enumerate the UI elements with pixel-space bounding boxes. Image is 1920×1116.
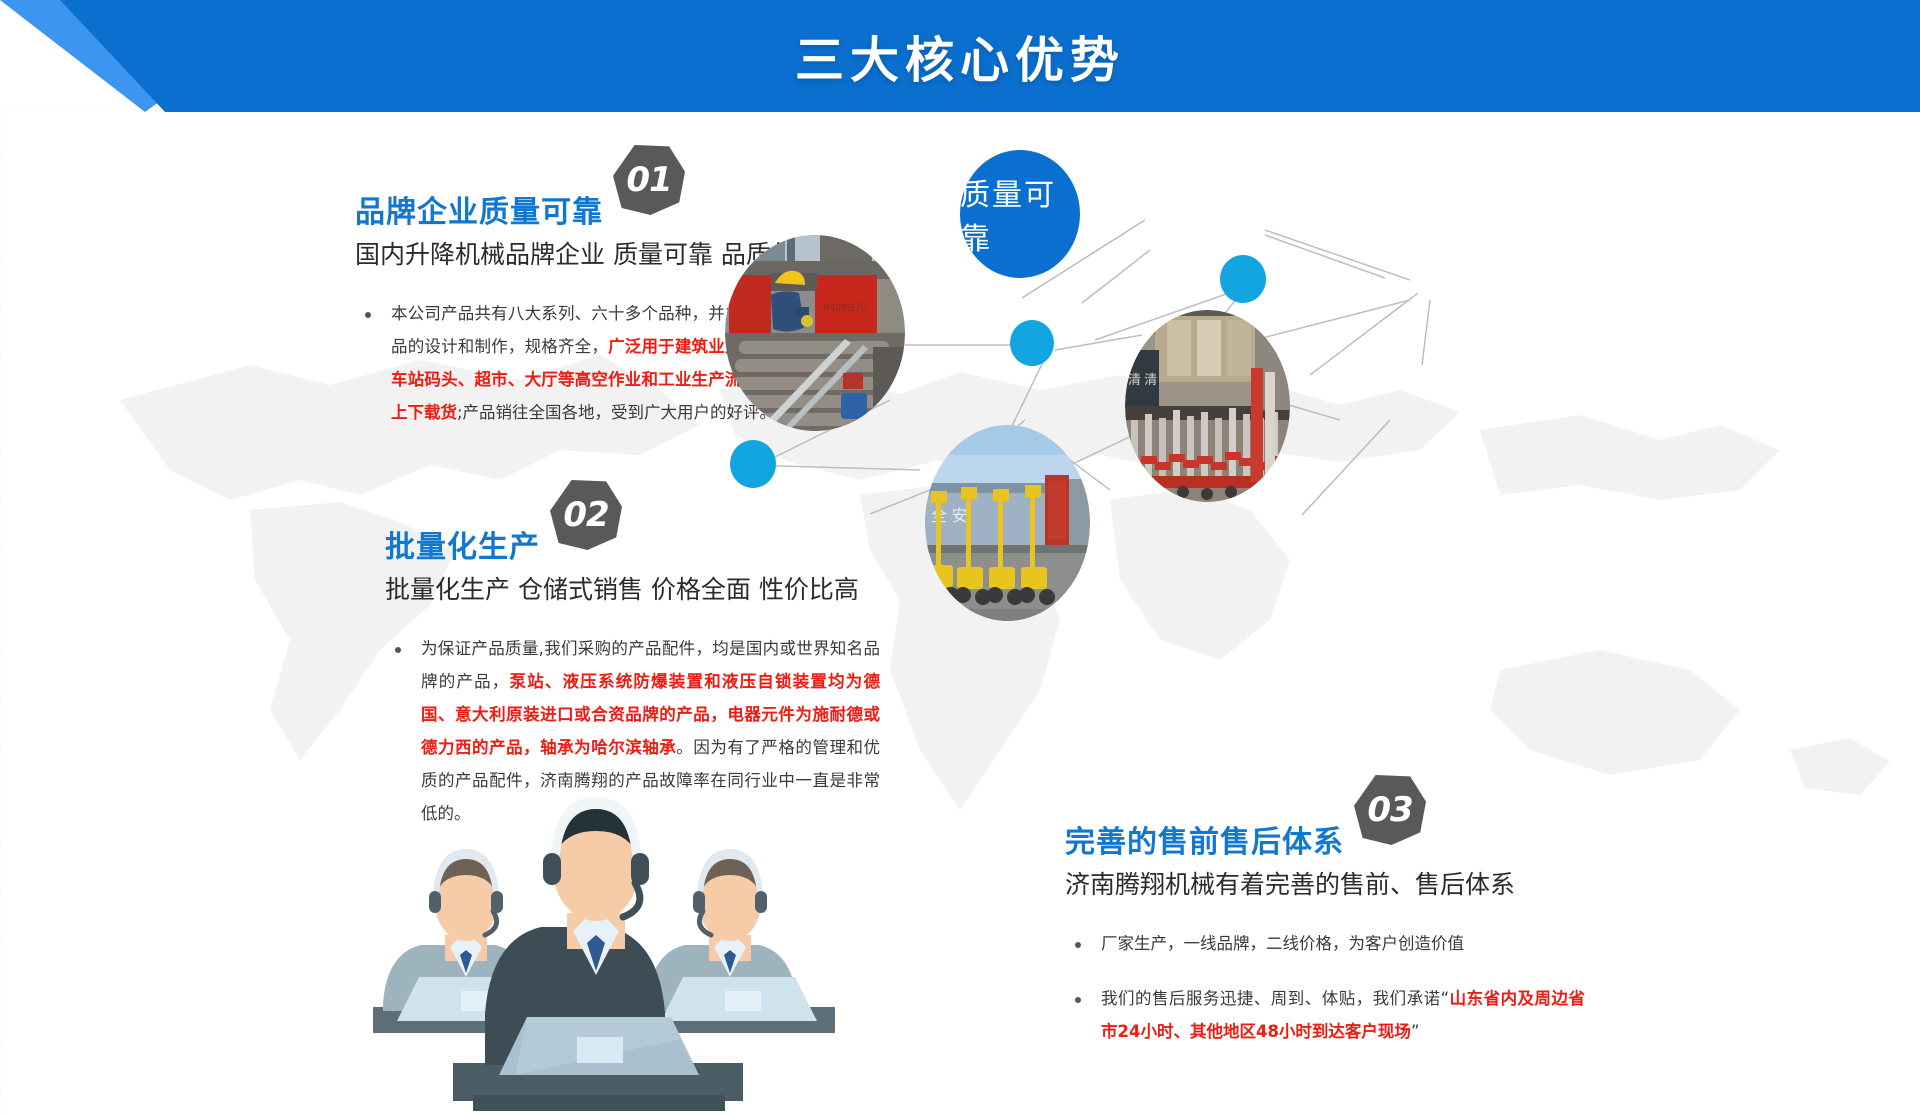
factory-cutting-machine-photo[interactable]: 6426S7u xyxy=(725,235,905,431)
lift-platforms-storefront-photo[interactable]: 清 清 xyxy=(1125,310,1290,502)
network-main-node-label: 质量可靠 xyxy=(960,170,1080,258)
yellow-boom-lifts-yard-photo[interactable]: 全 安 xyxy=(925,425,1090,621)
network-dot-bottom-left[interactable] xyxy=(730,440,776,488)
svg-text:清 清: 清 清 xyxy=(1128,372,1157,387)
network-diagram: 质量可靠 6426S7u xyxy=(870,130,1920,690)
network-dot-top-right[interactable] xyxy=(1220,255,1266,303)
network-dot-center[interactable] xyxy=(1010,320,1054,366)
poster-root: 三大核心优势 品牌企业质量可靠 01 国内升降机械品牌企业 质量可靠 品质保证 … xyxy=(0,0,1920,1116)
network-main-node[interactable]: 质量可靠 xyxy=(960,150,1080,278)
call-center-agents-illustration xyxy=(355,795,835,1115)
agent-right xyxy=(637,849,835,1033)
svg-text:6426S7u: 6426S7u xyxy=(823,302,867,314)
